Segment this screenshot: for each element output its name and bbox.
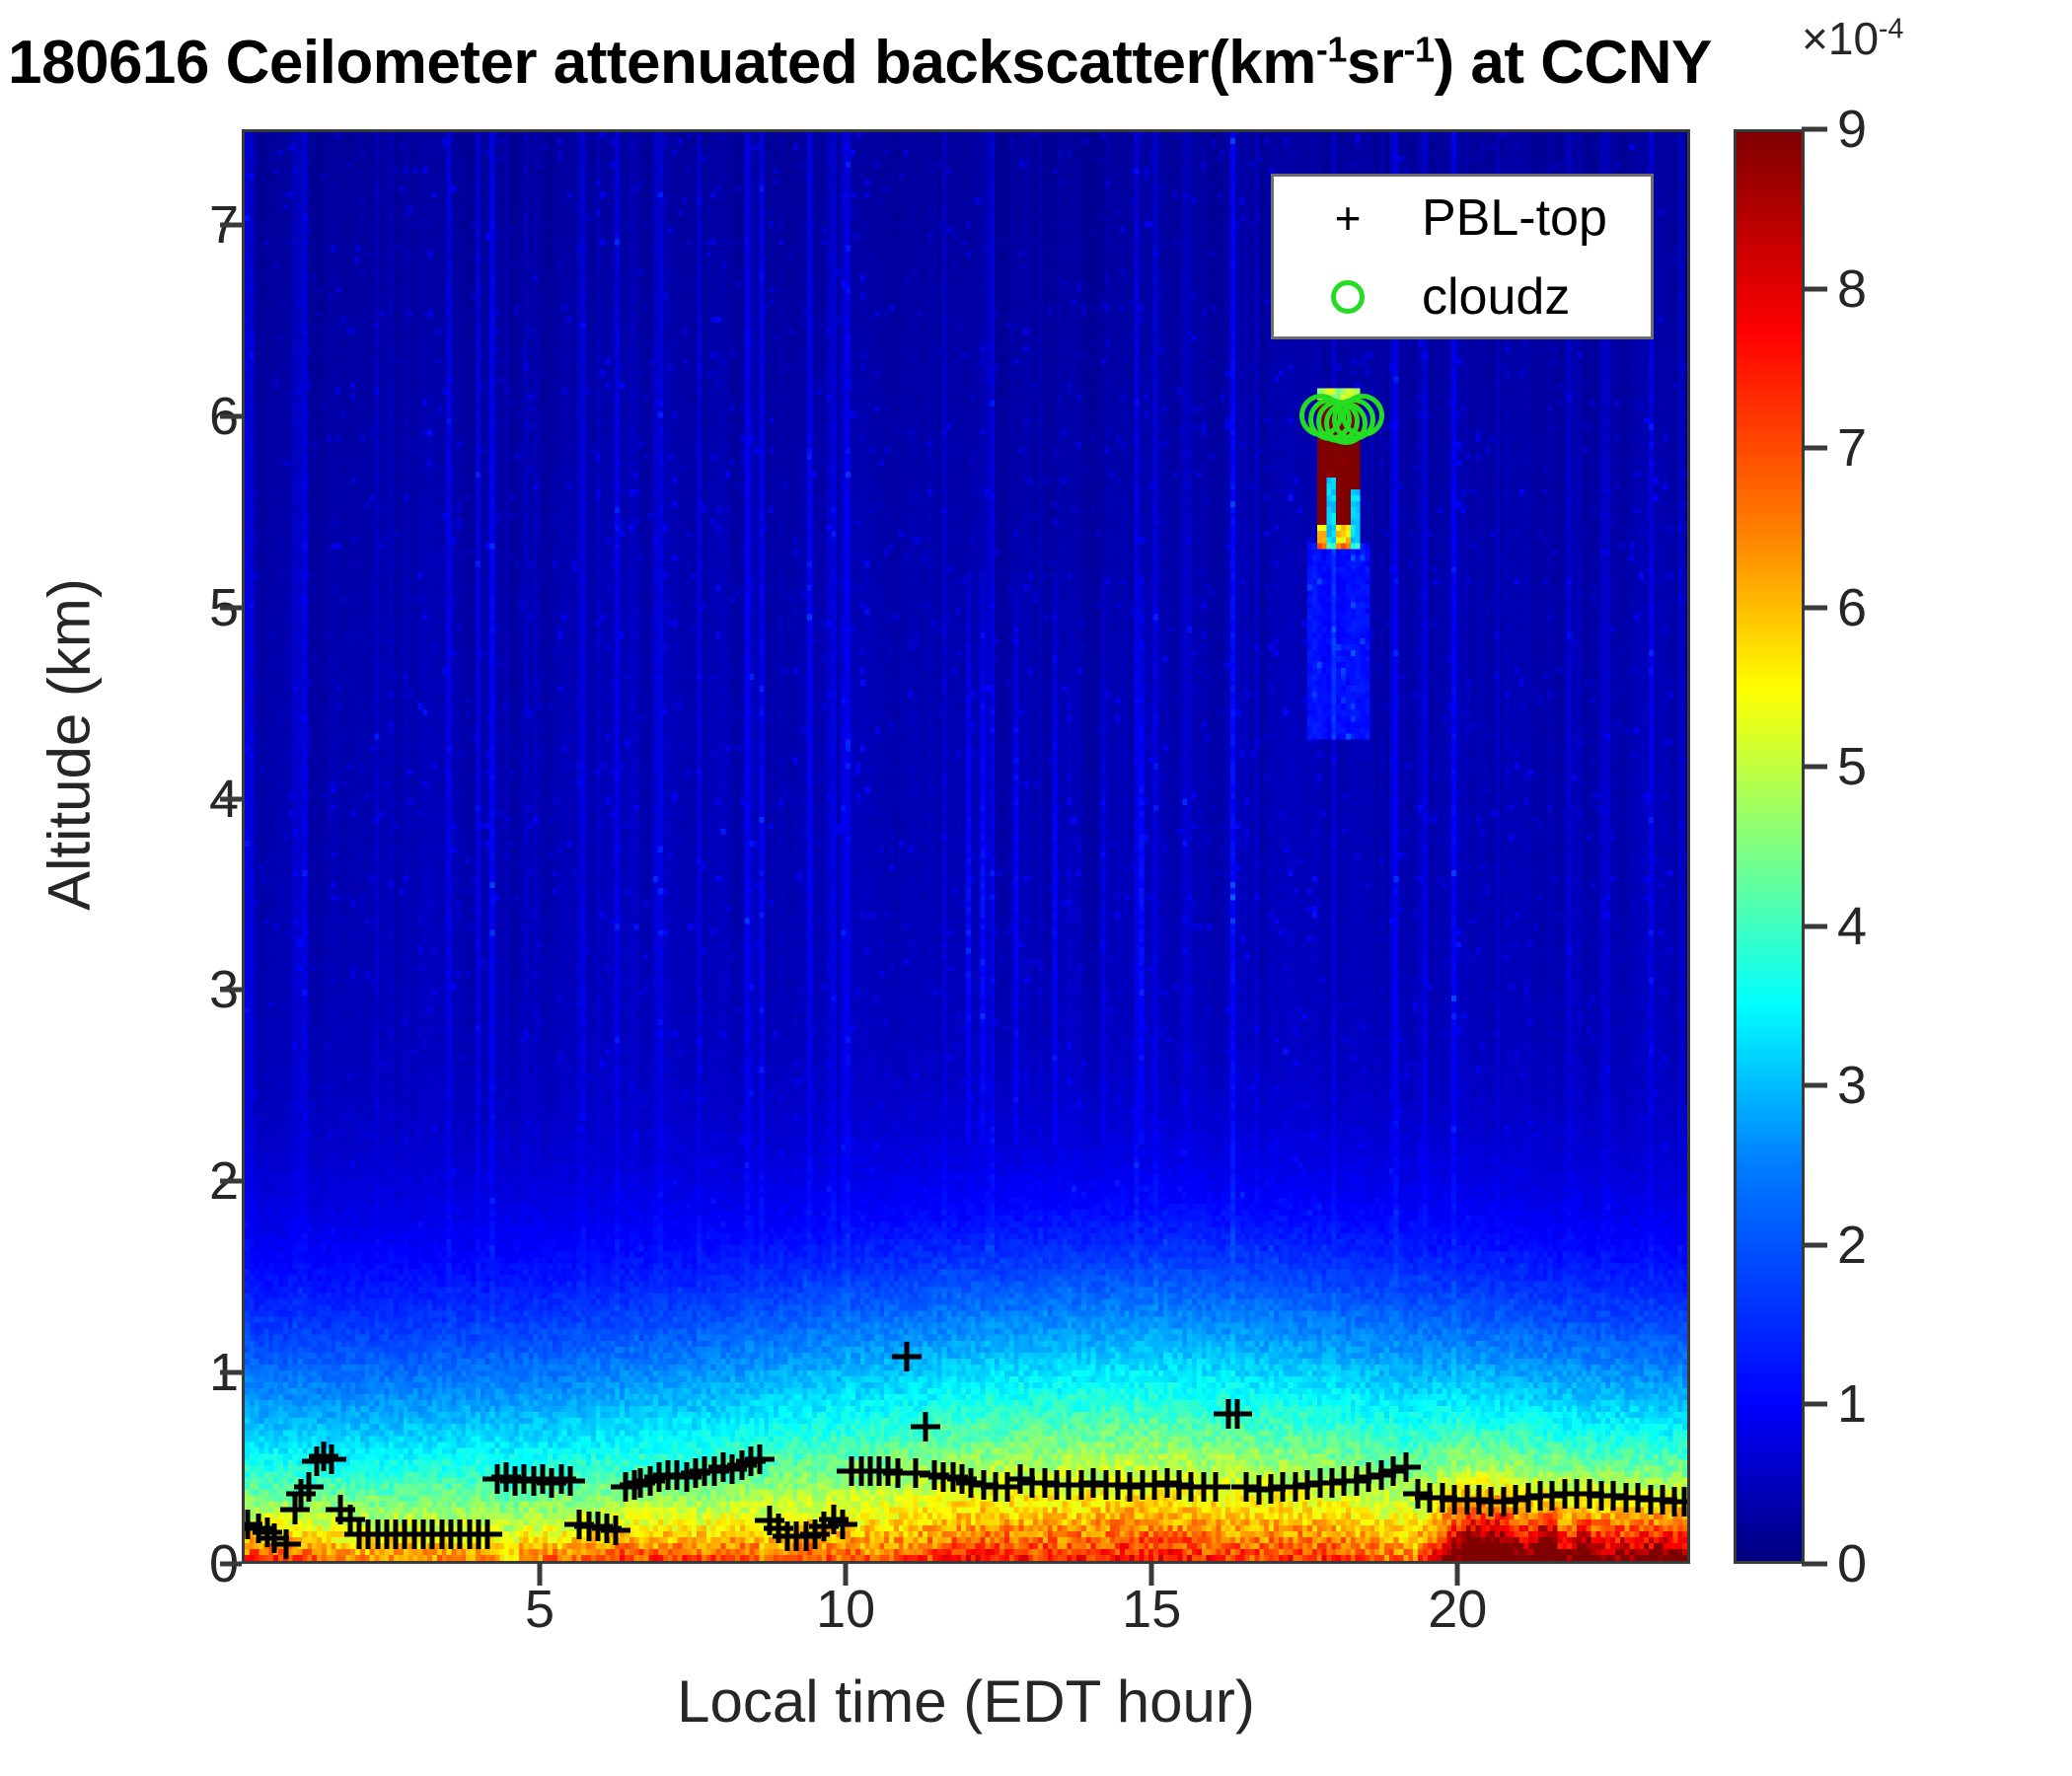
legend-label-pbl-top: PBL-top: [1422, 188, 1607, 248]
title-prefix: 180616 Ceilometer attenuated backscatter…: [8, 29, 1316, 97]
pbl-top-marker: [826, 1508, 859, 1541]
colorbar-tick-label: 3: [1837, 1055, 1867, 1116]
x-tick-mark: [1455, 1564, 1460, 1586]
colorbar-tick-label: 4: [1837, 896, 1867, 957]
colorbar-tick-label: 0: [1837, 1533, 1867, 1594]
pbl-top-marker: [890, 1340, 924, 1373]
title-superscript-2: -1: [1404, 29, 1435, 69]
colorbar-tick-mark: [1802, 446, 1827, 451]
y-tick-mark: [220, 988, 242, 993]
pbl-top-marker: [743, 1443, 777, 1476]
heatmap-canvas-container: [245, 132, 1687, 1561]
colorbar-tick-mark: [1802, 286, 1827, 291]
x-tick-label: 20: [1428, 1579, 1487, 1640]
figure-root: 180616 Ceilometer attenuated backscatter…: [0, 0, 2072, 1776]
pbl-top-marker: [1667, 1485, 1690, 1518]
colorbar-tick-label: 7: [1837, 417, 1867, 479]
title-superscript-1: -1: [1316, 29, 1347, 69]
figure-title: 180616 Ceilometer attenuated backscatter…: [0, 28, 2072, 98]
cloudz-marker: [1341, 394, 1384, 437]
colorbar-tick-mark: [1802, 127, 1827, 132]
legend-label-cloudz: cloudz: [1422, 267, 1570, 327]
colorbar-tick-label: 8: [1837, 259, 1867, 320]
x-tick-label: 5: [525, 1579, 555, 1640]
pbl-top-marker: [599, 1514, 632, 1547]
pbl-top-marker: [909, 1410, 942, 1443]
colorbar-tick-mark: [1802, 1083, 1827, 1088]
legend-box[interactable]: + PBL-top cloudz: [1271, 174, 1654, 339]
x-tick-label: 15: [1122, 1579, 1181, 1640]
x-tick-mark: [1149, 1564, 1154, 1586]
x-tick-mark: [538, 1564, 543, 1586]
plus-marker-icon: +: [1274, 191, 1422, 245]
colorbar-tick-label: 2: [1837, 1215, 1867, 1276]
y-tick-mark: [220, 413, 242, 418]
y-axis-label: Altitude (km): [36, 350, 104, 1140]
pbl-top-marker: [269, 1527, 303, 1561]
colorbar-exponent-label: ×10-4: [1802, 12, 1903, 65]
pbl-top-marker: [315, 1443, 348, 1476]
colorbar-tick-mark: [1802, 1242, 1827, 1247]
title-mid: sr: [1347, 29, 1404, 97]
y-tick-mark: [220, 222, 242, 227]
y-tick-mark: [220, 1179, 242, 1184]
pbl-top-marker: [471, 1517, 504, 1551]
pbl-top-marker: [1199, 1470, 1232, 1504]
pbl-top-marker: [1221, 1397, 1254, 1431]
y-tick-mark: [220, 1370, 242, 1375]
colorbar-tick-mark: [1802, 1402, 1827, 1407]
colorbar-tick-label: 6: [1837, 577, 1867, 638]
heatmap-plot-area[interactable]: [242, 129, 1690, 1564]
colorbar-tick-mark: [1802, 765, 1827, 770]
circle-marker-icon: [1274, 280, 1422, 314]
colorbar-tick-label: 5: [1837, 736, 1867, 797]
colorbar-tick-label: 9: [1837, 99, 1867, 160]
colorbar-tick-mark: [1802, 924, 1827, 928]
x-axis-label: Local time (EDT hour): [242, 1667, 1690, 1736]
colorbar-tick-mark: [1802, 1562, 1827, 1567]
legend-item-pbl-top: + PBL-top: [1274, 177, 1651, 259]
x-tick-mark: [844, 1564, 849, 1586]
y-tick-mark: [220, 1562, 242, 1567]
pbl-top-marker: [554, 1464, 587, 1498]
title-suffix: ) at CCNY: [1434, 29, 1711, 97]
legend-item-cloudz: cloudz: [1274, 256, 1651, 338]
heatmap-image: [245, 132, 1687, 1561]
colorbar-tick-mark: [1802, 605, 1827, 610]
y-tick-mark: [220, 796, 242, 801]
x-tick-label: 10: [816, 1579, 875, 1640]
y-tick-mark: [220, 605, 242, 610]
colorbar-tick-label: 1: [1837, 1373, 1867, 1435]
colorbar[interactable]: [1734, 129, 1805, 1564]
